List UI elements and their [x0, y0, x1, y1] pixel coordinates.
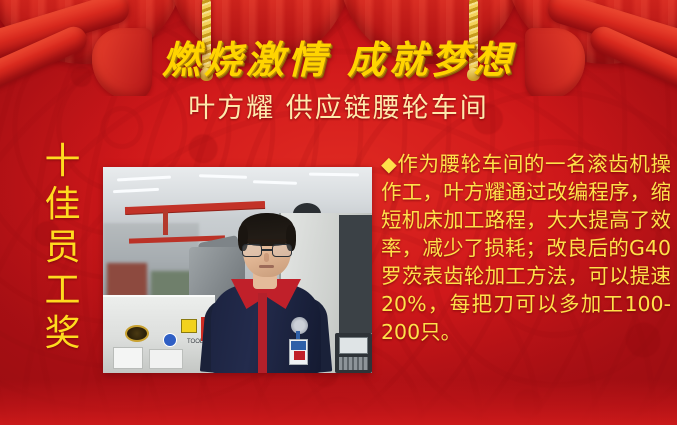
photo-machine-dark-panel — [339, 215, 372, 333]
photo-person-nose — [264, 253, 269, 262]
employee-photo: TOOL — [103, 167, 372, 373]
photo-machine-label-text: TOOL — [187, 339, 203, 345]
photo-white-label — [149, 349, 183, 369]
award-label-char: 十 — [40, 140, 86, 183]
photo-id-badge — [289, 339, 308, 365]
photo-background-object — [107, 263, 147, 297]
page-title: 燃烧激情 成就梦想 — [0, 40, 677, 80]
photo-gantry-post — [163, 209, 168, 235]
photo-cnc-keypad — [339, 357, 368, 370]
photo-machine-emblem-icon — [125, 325, 149, 342]
award-vertical-label: 十 佳 员 工 奖 — [40, 140, 86, 355]
award-label-char: 工 — [40, 269, 86, 312]
photo-uniform-placket — [258, 293, 267, 373]
photo-cnc-screen — [339, 337, 368, 354]
award-label-char: 佳 — [40, 183, 86, 226]
photo-white-label — [113, 347, 143, 369]
photo-person-mouth — [259, 265, 274, 268]
photo-warning-sticker-icon — [181, 319, 197, 333]
award-label-char: 奖 — [40, 312, 86, 355]
award-description-text: ◆作为腰轮车间的一名滚齿机操作工，叶方耀通过改编程序，缩短机床加工路程，大大提高… — [381, 150, 671, 346]
photo-blue-sticker-icon — [163, 333, 177, 347]
page-subtitle: 叶方耀 供应链腰轮车间 — [0, 94, 677, 124]
award-poster: 燃烧激情 成就梦想 叶方耀 供应链腰轮车间 十 佳 员 工 奖 — [0, 0, 677, 425]
award-label-char: 员 — [40, 226, 86, 269]
photo-person-eyebrows — [247, 239, 287, 242]
